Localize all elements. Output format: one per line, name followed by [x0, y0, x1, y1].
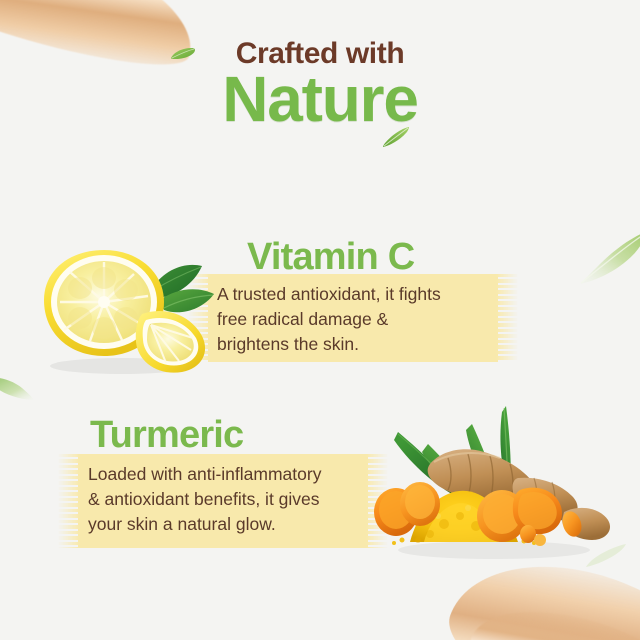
headline-inner: Crafted with Nature — [222, 38, 418, 133]
turmeric-artwork — [368, 384, 620, 569]
promo-graphic-canvas: Crafted with Nature — [0, 0, 640, 640]
leaf-icon-before-crafted — [170, 47, 196, 60]
ingredient-block-vitamin-c: Vitamin C A trusted antioxidant, it figh… — [0, 232, 640, 382]
ingredient-description-turmeric: Loaded with anti-inflammatory & antioxid… — [88, 462, 388, 537]
cream-swatch-bottom-right-highlight — [464, 587, 640, 640]
ingredient-description-vitamin-c: A trusted antioxidant, it fights free ra… — [217, 282, 517, 357]
ingredient-block-turmeric: Turmeric Loaded with anti-inflammatory &… — [0, 406, 640, 576]
headline: Crafted with Nature — [0, 38, 640, 133]
ingredient-title-turmeric: Turmeric — [90, 416, 243, 454]
headline-line-2: Nature — [222, 66, 418, 133]
ingredient-title-vitamin-c: Vitamin C — [247, 238, 414, 276]
